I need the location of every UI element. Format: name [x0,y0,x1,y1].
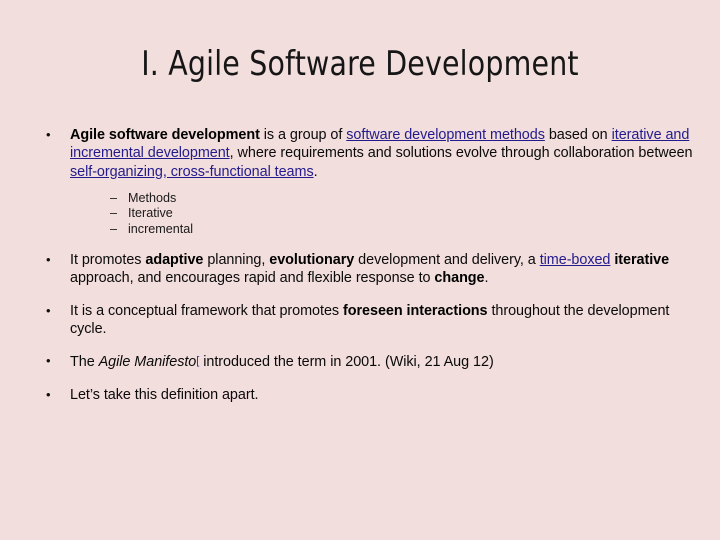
bullet-marker-icon: • [46,352,60,370]
page-title: I. Agile Software Development [25,44,695,84]
sub-bullet-label: Iterative [128,206,173,221]
plain-text: The [70,354,99,370]
bullet-item-promotes-adaptive: •It promotes adaptive planning, evolutio… [40,251,696,288]
sub-bullet-label: incremental [128,222,193,237]
plain-text: , where requirements and solutions evolv… [230,145,693,161]
slide-canvas: I. Agile Software Development •Agile sof… [0,0,720,540]
emphasis-text: iterative [614,252,669,268]
plain-text: . [314,164,318,180]
bullet-item-agile-manifesto: •The Agile Manifesto[ introduced the ter… [40,352,696,371]
plain-text: It promotes [70,252,145,268]
sub-bullet-marker-icon: – [110,206,117,221]
sub-bullet-marker-icon: – [110,191,117,206]
bullet-item-definition: •Agile software development is a group o… [40,126,696,237]
emphasis-text: Agile software development [70,127,260,143]
bullet-marker-icon: • [46,251,60,269]
emphasis-text: change [434,270,484,286]
sub-bullet-item: –Iterative [110,206,696,221]
bullet-item-take-apart: •Let’s take this definition apart. [40,386,696,404]
emphasis-text: adaptive [145,252,203,268]
sub-bullet-label: Methods [128,191,176,206]
emphasis-text: foreseen interactions [343,303,488,319]
sub-bullet-item: –Methods [110,191,696,206]
emphasis-text: evolutionary [269,252,354,268]
plain-text: Let’s take this definition apart. [70,387,258,403]
bullet-text-agile-manifesto: The Agile Manifesto[ introduced the term… [70,352,696,371]
sub-bullet-marker-icon: – [110,222,117,237]
plain-text: planning, [203,252,269,268]
bullet-text-definition: Agile software development is a group of… [70,126,696,181]
plain-text: . [485,270,489,286]
plain-text: approach, and encourages rapid and flexi… [70,270,434,286]
plain-text: introduced the term in 2001. (Wiki, 21 A… [199,354,493,370]
bullet-marker-icon: • [46,302,60,320]
plain-text: It is a conceptual framework that promot… [70,303,343,319]
bullet-text-conceptual-framework: It is a conceptual framework that promot… [70,302,696,339]
bullet-marker-icon: • [46,126,60,144]
italic-text: Agile Manifesto [99,354,197,370]
plain-text: based on [545,127,612,143]
plain-text: development and delivery, a [354,252,539,268]
hyperlink-text[interactable]: software development methods [346,127,545,143]
plain-text: is a group of [260,127,346,143]
bullet-text-promotes-adaptive: It promotes adaptive planning, evolution… [70,251,696,288]
hyperlink-text[interactable]: time-boxed [540,252,611,268]
hyperlink-text[interactable]: self-organizing, cross-functional teams [70,164,314,180]
sub-bullet-item: –incremental [110,222,696,237]
slide-body: •Agile software development is a group o… [40,126,696,404]
bullet-item-conceptual-framework: •It is a conceptual framework that promo… [40,302,696,339]
bullet-text-take-apart: Let’s take this definition apart. [70,386,696,404]
bullet-marker-icon: • [46,386,60,404]
sub-bullet-list: –Methods–Iterative–incremental [70,191,696,237]
